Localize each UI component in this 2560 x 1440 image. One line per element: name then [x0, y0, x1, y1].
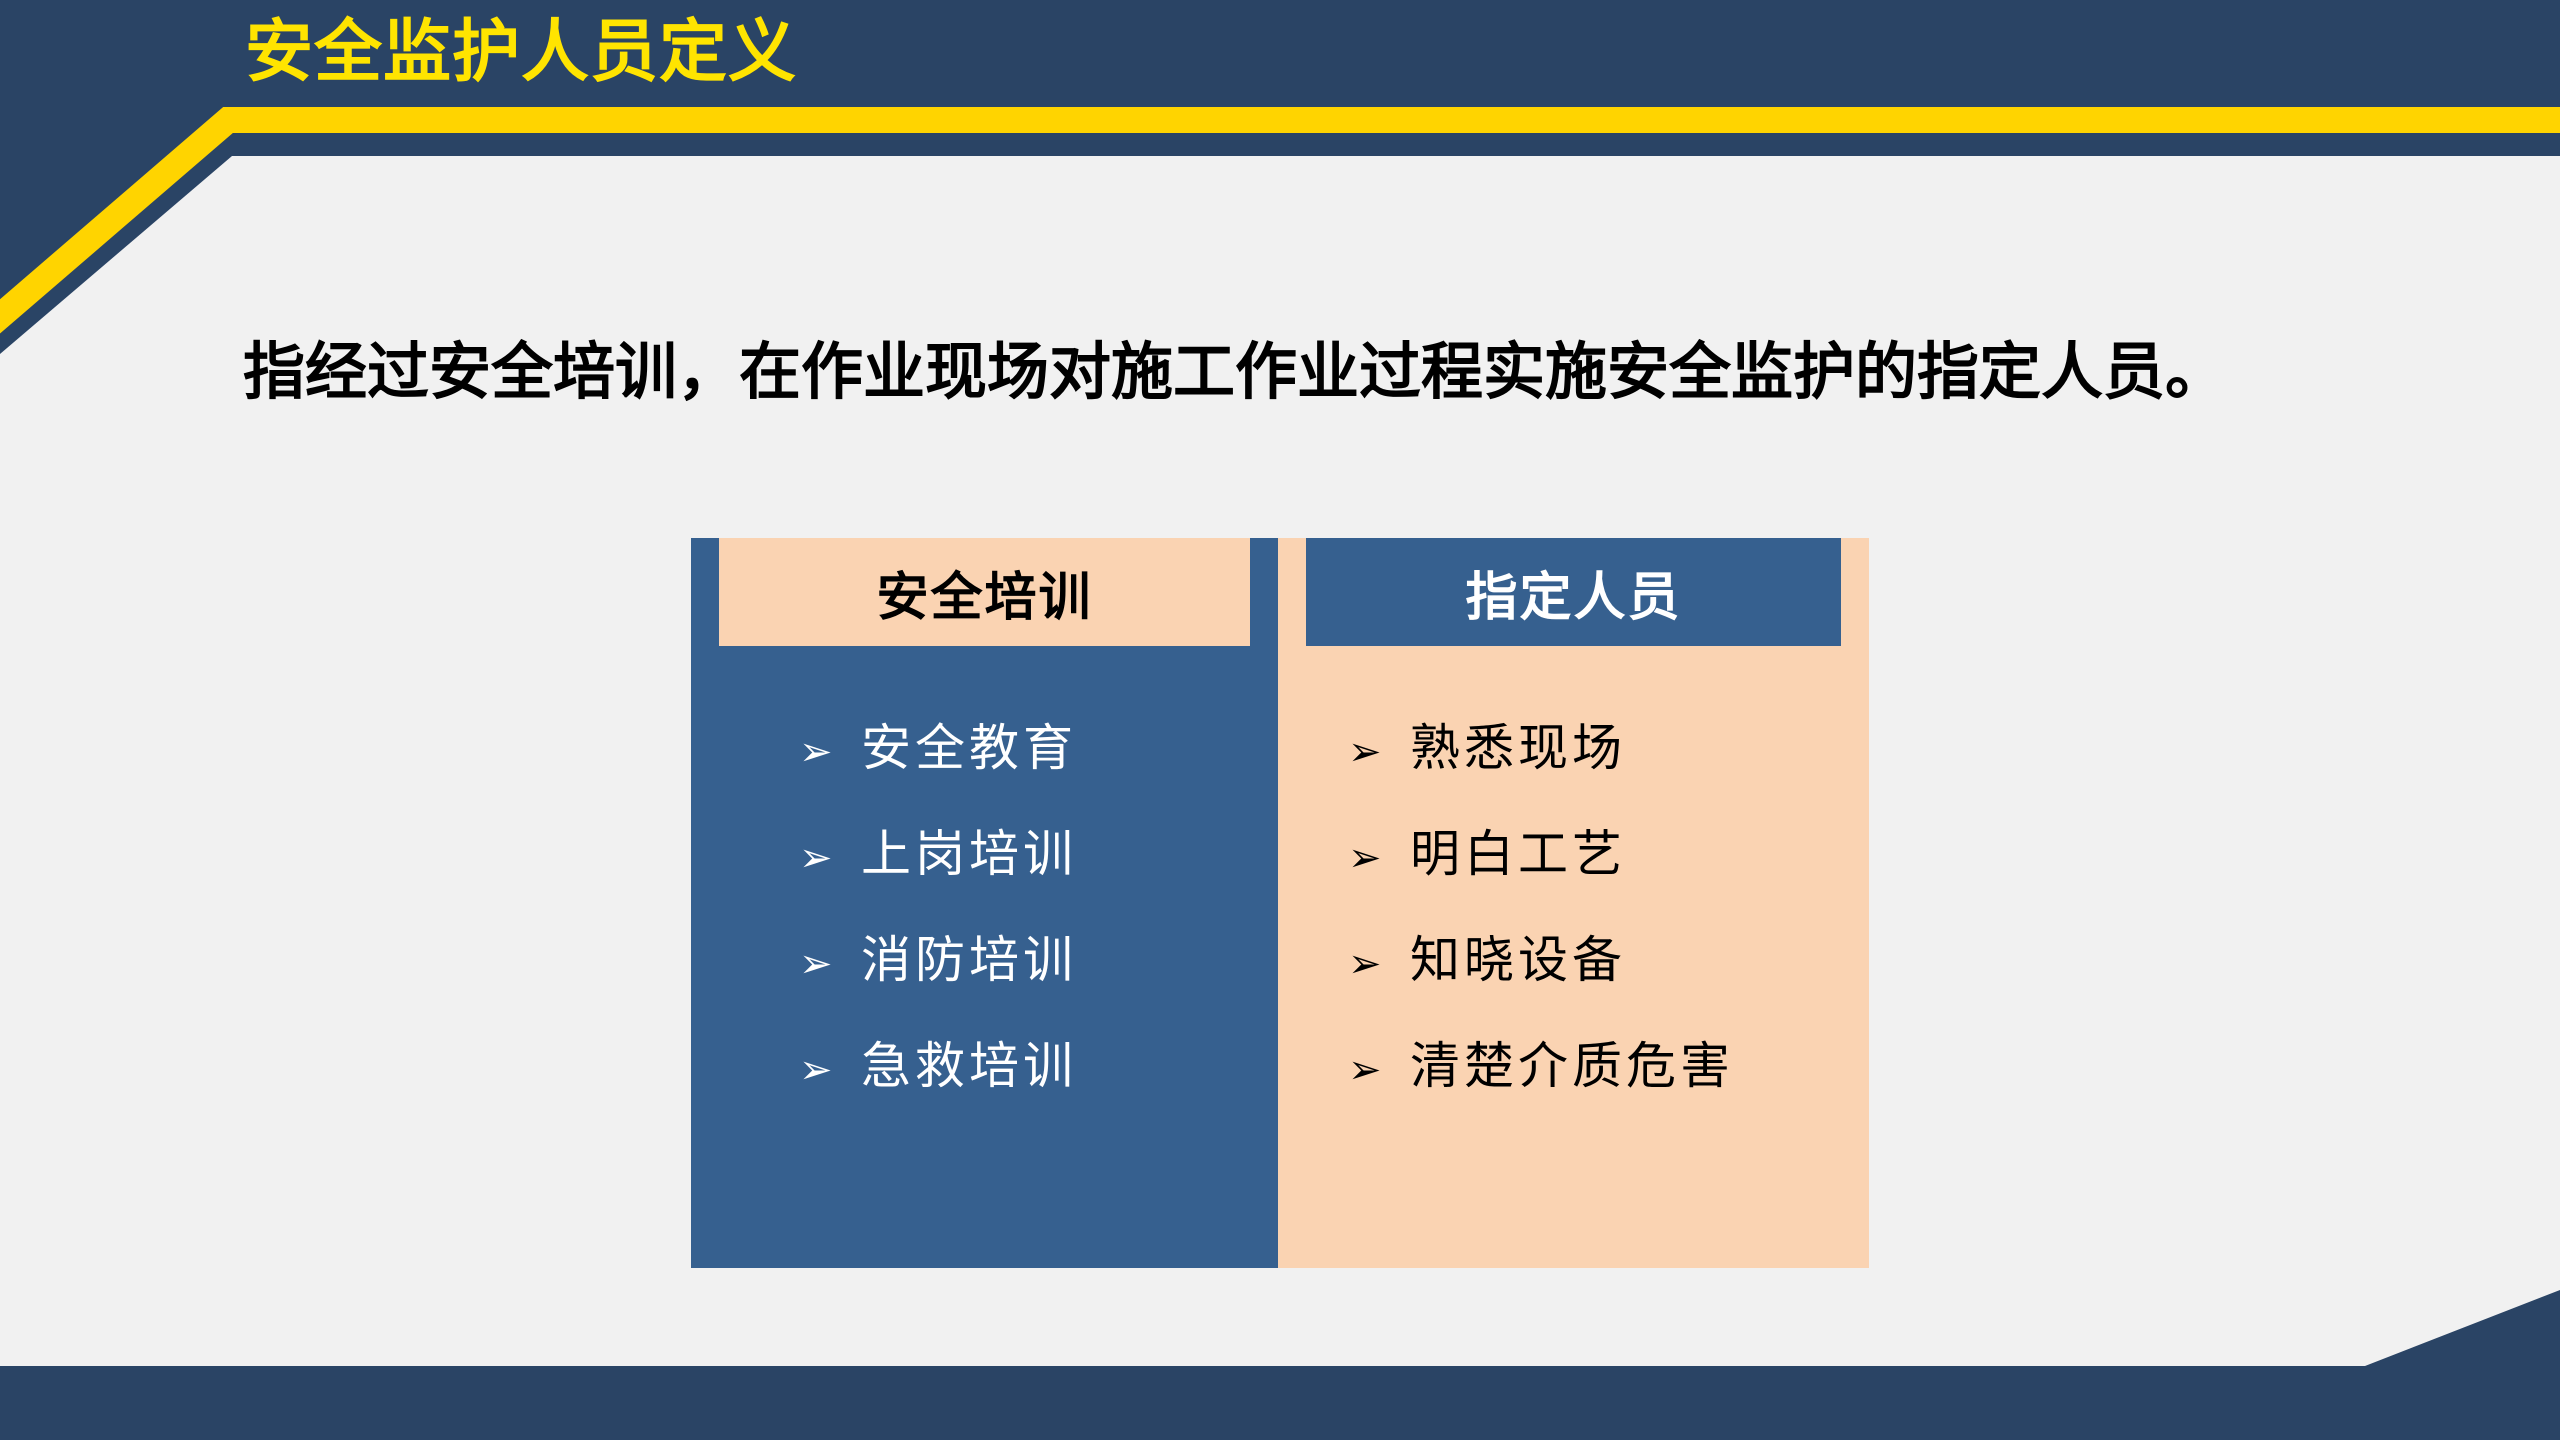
designated-personnel-list: ➢ 熟悉现场 ➢ 明白工艺 ➢ 知晓设备 ➢ 清楚介质危害: [1278, 708, 1869, 1132]
list-item-label: 安全教育: [861, 708, 1077, 780]
arrow-bullet-icon: ➢: [1348, 732, 1410, 772]
list-item-label: 消防培训: [861, 920, 1077, 992]
column-designated-personnel: 指定人员 ➢ 熟悉现场 ➢ 明白工艺 ➢ 知晓设备 ➢ 清楚介质危害: [1278, 538, 1869, 1268]
arrow-bullet-icon: ➢: [799, 838, 861, 878]
presentation-slide: 安全监护人员定义 指经过安全培训，在作业现场对施工作业过程实施安全监护的指定人员…: [0, 0, 2560, 1440]
page-title: 安全监护人员定义: [245, 2, 2345, 102]
arrow-bullet-icon: ➢: [1348, 944, 1410, 984]
list-item: ➢ 安全教育: [799, 708, 1278, 814]
list-item: ➢ 急救培训: [799, 1026, 1278, 1132]
column-header-designated-personnel: 指定人员: [1306, 538, 1841, 646]
footer-band: [0, 1290, 2560, 1440]
arrow-bullet-icon: ➢: [799, 1050, 861, 1090]
two-column-panel: 安全培训 ➢ 安全教育 ➢ 上岗培训 ➢ 消防培训 ➢ 急救培训: [691, 538, 1869, 1268]
arrow-bullet-icon: ➢: [1348, 1050, 1410, 1090]
list-item: ➢ 知晓设备: [1348, 920, 1869, 1026]
header-band-strip: [232, 112, 2560, 156]
column-safety-training: 安全培训 ➢ 安全教育 ➢ 上岗培训 ➢ 消防培训 ➢ 急救培训: [691, 538, 1278, 1268]
list-item-label: 清楚介质危害: [1410, 1026, 1734, 1098]
definition-paragraph: 指经过安全培训，在作业现场对施工作业过程实施安全监护的指定人员。: [243, 330, 2393, 416]
list-item-label: 知晓设备: [1410, 920, 1626, 992]
list-item: ➢ 清楚介质危害: [1348, 1026, 1869, 1132]
list-item-label: 熟悉现场: [1410, 708, 1626, 780]
column-header-safety-training: 安全培训: [719, 538, 1250, 646]
list-item: ➢ 熟悉现场: [1348, 708, 1869, 814]
arrow-bullet-icon: ➢: [799, 944, 861, 984]
list-item: ➢ 上岗培训: [799, 814, 1278, 920]
list-item: ➢ 消防培训: [799, 920, 1278, 1026]
list-item-label: 明白工艺: [1410, 814, 1626, 886]
arrow-bullet-icon: ➢: [1348, 838, 1410, 878]
safety-training-list: ➢ 安全教育 ➢ 上岗培训 ➢ 消防培训 ➢ 急救培训: [691, 708, 1278, 1132]
list-item: ➢ 明白工艺: [1348, 814, 1869, 920]
list-item-label: 上岗培训: [861, 814, 1077, 886]
list-item-label: 急救培训: [861, 1026, 1077, 1098]
arrow-bullet-icon: ➢: [799, 732, 861, 772]
